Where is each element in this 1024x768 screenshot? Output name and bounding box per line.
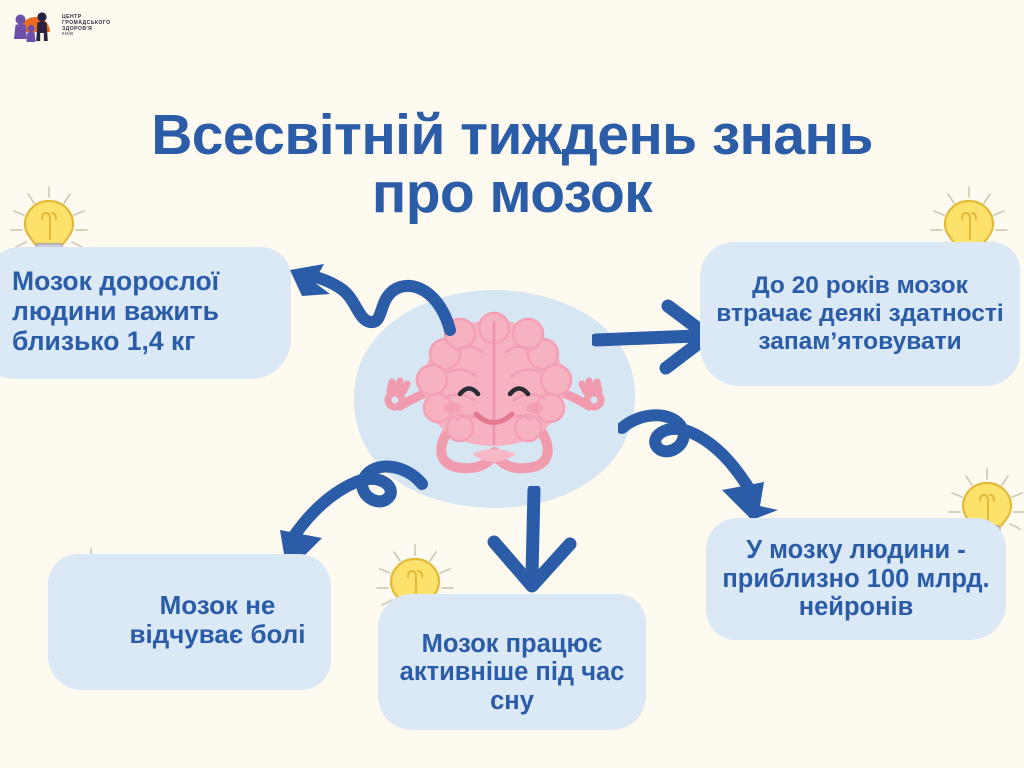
fact-card-sleep: Мозок працює активніше під час сну bbox=[378, 594, 646, 730]
fact-text-memory: До 20 років мозок втрачає деякі здатност… bbox=[712, 272, 1008, 355]
infographic-canvas: Центр Громадського Здоров'я Київ Всесвіт… bbox=[0, 0, 1024, 768]
fact-card-weight: Мозок дорослої людини важить близько 1,4… bbox=[0, 247, 291, 379]
curly-arrow-up-left-icon bbox=[272, 252, 462, 372]
logo-mark-icon bbox=[12, 6, 56, 46]
fact-text-neurons: У мозку людини - приблизно 100 млрд. ней… bbox=[718, 536, 994, 622]
fact-text-sleep: Мозок працює активніше під час сну bbox=[392, 630, 632, 722]
logo: Центр Громадського Здоров'я Київ bbox=[12, 4, 222, 48]
logo-line-4: Київ bbox=[62, 32, 111, 37]
page-title-line-1: Всесвітній тиждень знань bbox=[151, 103, 873, 167]
page-title: Всесвітній тиждень знань про мозок bbox=[0, 106, 1024, 222]
fact-card-neurons: У мозку людини - приблизно 100 млрд. ней… bbox=[706, 518, 1006, 640]
fact-text-weight: Мозок дорослої людини важить близько 1,4… bbox=[12, 267, 277, 357]
straight-arrow-down-icon bbox=[476, 486, 584, 602]
fact-card-memory: До 20 років мозок втрачає деякі здатност… bbox=[700, 242, 1020, 386]
curly-arrow-down-right-icon bbox=[618, 406, 790, 524]
fact-card-pain: Мозок не відчуває болі bbox=[48, 554, 331, 690]
logo-wordmark: Центр Громадського Здоров'я Київ bbox=[62, 15, 111, 37]
fact-text-pain: Мозок не відчуває болі bbox=[116, 591, 319, 650]
page-title-line-2: про мозок bbox=[0, 164, 1024, 222]
